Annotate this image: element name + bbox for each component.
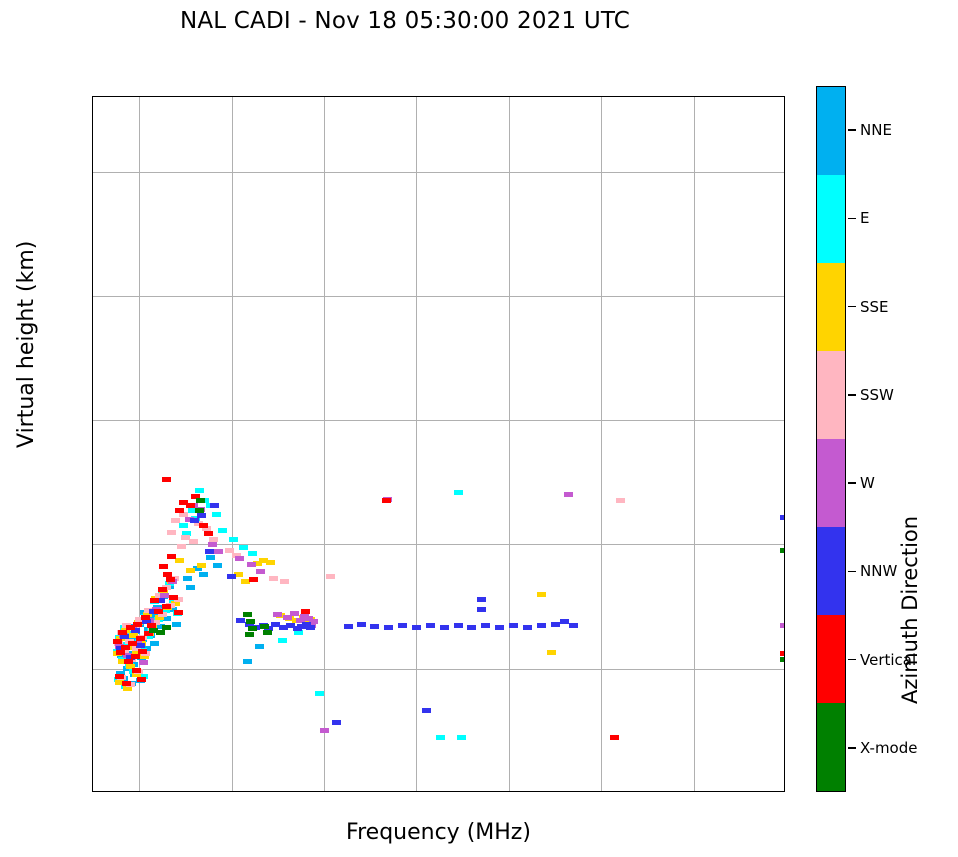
data-point (154, 609, 163, 614)
colorbar-tick (848, 218, 856, 220)
data-point (780, 651, 785, 656)
colorbar[interactable] (816, 86, 846, 792)
data-point (179, 523, 188, 528)
data-point (357, 622, 366, 627)
data-point (243, 659, 252, 664)
data-point (560, 619, 569, 624)
data-point (205, 549, 214, 554)
data-point (537, 623, 546, 628)
data-point (212, 512, 221, 517)
data-point (116, 650, 125, 655)
data-point (248, 551, 257, 556)
data-point (131, 654, 140, 659)
colorbar-segment-sse[interactable] (817, 263, 845, 351)
y-axis-minor-tick (92, 481, 93, 483)
data-point (141, 615, 150, 620)
data-point (412, 625, 421, 630)
data-point (206, 555, 215, 560)
data-point (436, 735, 445, 740)
data-point (477, 597, 486, 602)
data-point (569, 623, 578, 628)
x-axis-tick (231, 791, 233, 792)
data-point (210, 503, 219, 508)
data-point (124, 659, 133, 664)
colorbar-segment-w[interactable] (817, 439, 845, 527)
data-point (509, 623, 518, 628)
data-point (208, 542, 217, 547)
data-point (440, 625, 449, 630)
data-point (167, 530, 176, 535)
data-point (477, 607, 486, 612)
x-axis-tick (138, 791, 140, 792)
data-point (280, 579, 289, 584)
colorbar-label-nne: NNE (860, 121, 892, 139)
data-point (169, 595, 178, 600)
data-point (196, 498, 205, 503)
data-point (273, 612, 282, 617)
data-point (245, 632, 254, 637)
colorbar-label-ssw: SSW (860, 386, 894, 404)
data-point (301, 609, 310, 614)
data-point (128, 641, 137, 646)
data-point (132, 668, 141, 673)
data-point (320, 728, 329, 733)
data-point (247, 562, 256, 567)
data-point (523, 625, 532, 630)
y-axis-tick (92, 419, 93, 421)
colorbar-tick (848, 129, 856, 131)
colorbar-tick (848, 394, 856, 396)
data-point (139, 660, 148, 665)
data-point (780, 548, 785, 553)
x-axis-minor-tick (185, 791, 187, 792)
data-point (384, 625, 393, 630)
x-axis-minor-tick (369, 791, 371, 792)
y-axis-tick (92, 668, 93, 670)
y-axis-minor-tick (92, 109, 93, 111)
colorbar-label-w: W (860, 474, 875, 492)
data-point (162, 604, 171, 609)
data-point (495, 625, 504, 630)
page-title: NAL CADI - Nov 18 05:30:00 2021 UTC (0, 8, 810, 34)
data-point (174, 610, 183, 615)
data-point (199, 523, 208, 528)
data-point (175, 558, 184, 563)
data-point (454, 490, 463, 495)
data-point (162, 477, 171, 482)
colorbar-segment-ssw[interactable] (817, 351, 845, 439)
data-point (454, 623, 463, 628)
data-point (172, 622, 181, 627)
x-axis-tick (693, 791, 695, 792)
data-point (551, 622, 560, 627)
data-point (186, 503, 195, 508)
colorbar-segment-nne[interactable] (817, 87, 845, 175)
colorbar-tick (848, 306, 856, 308)
data-point (118, 630, 127, 635)
data-point (239, 545, 248, 550)
data-point (269, 576, 278, 581)
data-point (136, 636, 145, 641)
colorbar-segment-e[interactable] (817, 175, 845, 263)
data-point (547, 650, 556, 655)
colorbar-title: Azimuth Direction (898, 516, 922, 704)
y-axis-minor-tick (92, 357, 93, 359)
y-axis-minor-tick (92, 606, 93, 608)
data-point (481, 623, 490, 628)
data-point (263, 630, 272, 635)
data-point (167, 554, 176, 559)
data-point (306, 625, 315, 630)
data-point (332, 720, 341, 725)
data-point (204, 531, 213, 536)
data-point (150, 641, 159, 646)
data-point (780, 657, 785, 662)
data-point (163, 572, 172, 577)
data-point (266, 560, 275, 565)
data-point (610, 735, 619, 740)
data-point (150, 598, 159, 603)
x-axis-minor-tick (739, 791, 741, 792)
x-axis-minor-tick (554, 791, 556, 792)
data-point (315, 691, 324, 696)
data-point (177, 544, 186, 549)
colorbar-segment-x-mode[interactable] (817, 703, 845, 791)
data-point (246, 619, 255, 624)
data-point (564, 492, 573, 497)
data-point (255, 644, 264, 649)
data-point (249, 577, 258, 582)
colorbar-label-nnw: NNW (860, 562, 897, 580)
data-point (189, 539, 198, 544)
y-axis-tick (92, 544, 93, 546)
data-point (218, 528, 227, 533)
colorbar-tick (848, 571, 856, 573)
y-axis-minor-tick (92, 730, 93, 732)
data-point (138, 649, 147, 654)
data-point (133, 622, 142, 627)
data-point (229, 537, 238, 542)
x-axis-title: Frequency (MHz) (92, 820, 785, 845)
data-point (197, 513, 206, 518)
data-point (214, 549, 223, 554)
colorbar-segment-nnw[interactable] (817, 527, 845, 615)
data-point (213, 563, 222, 568)
data-point (283, 615, 292, 620)
plot-area: 24681012141602004006008001000 (92, 96, 785, 792)
data-point (159, 564, 168, 569)
x-axis-tick (416, 791, 418, 792)
data-point (426, 623, 435, 628)
x-axis-minor-tick (92, 791, 94, 792)
x-axis-tick (600, 791, 602, 792)
data-point (197, 563, 206, 568)
data-point (199, 572, 208, 577)
data-point (235, 556, 244, 561)
data-point (113, 639, 122, 644)
data-point (162, 625, 171, 630)
data-point (186, 568, 195, 573)
data-point (137, 677, 146, 682)
data-point (122, 681, 131, 686)
data-point (227, 574, 236, 579)
data-point (344, 624, 353, 629)
x-axis-minor-tick (277, 791, 279, 792)
ionogram-page: NAL CADI - Nov 18 05:30:00 2021 UTC 2468… (0, 0, 958, 857)
data-point (171, 518, 180, 523)
data-point (115, 674, 124, 679)
x-axis-tick (508, 791, 510, 792)
x-axis-minor-tick (462, 791, 464, 792)
colorbar-tick (848, 659, 856, 661)
data-point (195, 508, 204, 513)
data-point (467, 625, 476, 630)
data-point (290, 611, 299, 616)
colorbar-segment-vertical[interactable] (817, 615, 845, 703)
colorbar-label-x-mode: X-mode (860, 739, 917, 757)
data-point (616, 498, 625, 503)
data-point (248, 626, 257, 631)
y-axis-minor-tick (92, 233, 93, 235)
data-point (243, 612, 252, 617)
data-point (186, 585, 195, 590)
data-point (256, 569, 265, 574)
colorbar-label-e: E (860, 209, 869, 227)
data-point (183, 576, 192, 581)
data-point (457, 735, 466, 740)
data-point (370, 624, 379, 629)
data-point (136, 643, 145, 648)
data-point (175, 508, 184, 513)
y-axis-title: Virtual height (km) (14, 241, 39, 448)
data-point (780, 515, 785, 520)
colorbar-tick (848, 747, 856, 749)
data-point (158, 587, 167, 592)
data-point (326, 574, 335, 579)
data-point (278, 638, 287, 643)
x-axis-tick (323, 791, 325, 792)
data-points-layer (93, 97, 784, 791)
data-point (398, 623, 407, 628)
data-point (166, 577, 175, 582)
data-point (156, 630, 165, 635)
colorbar-label-sse: SSE (860, 298, 889, 316)
data-point (260, 624, 269, 629)
data-point (422, 708, 431, 713)
colorbar-tick (848, 482, 856, 484)
y-axis-tick (92, 295, 93, 297)
data-point (195, 488, 204, 493)
data-point (537, 592, 546, 597)
y-axis-tick (92, 171, 93, 173)
data-point (382, 498, 391, 503)
data-point (780, 623, 785, 628)
x-axis-minor-tick (647, 791, 649, 792)
